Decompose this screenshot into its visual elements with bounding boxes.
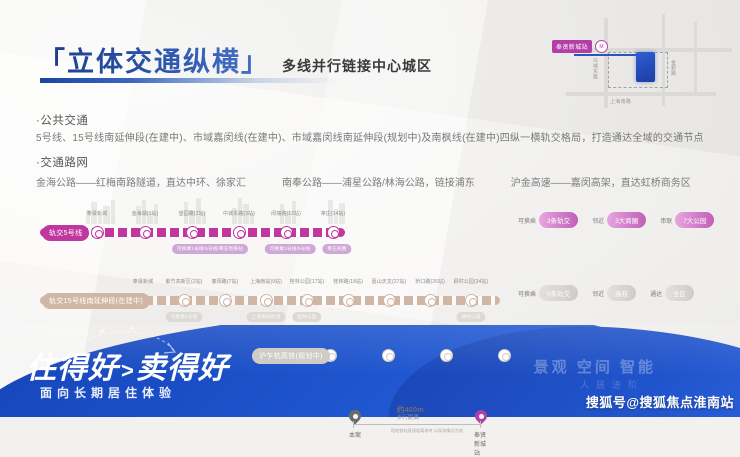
map-road	[694, 22, 697, 92]
walk-distance-callout: 约400m 步行距离 距地铁站直线距离参考 以现场情况为准 本案 奉贤新城站	[345, 398, 495, 446]
metro-station-marker[interactable]	[260, 294, 273, 307]
feature-chip: 通达全区	[650, 285, 694, 301]
map-station-marker: 奉贤新城站 M	[552, 40, 608, 53]
metro-station-name: 金海湖(1站)	[132, 210, 159, 217]
metro-station-marker[interactable]	[383, 294, 396, 307]
metro-station-marker[interactable]	[424, 294, 437, 307]
slogan-part-b: 卖得好	[136, 343, 229, 387]
road-item: 南奉公路——浦星公路/林海公路，链接浦东	[282, 174, 475, 189]
title-main: 「立体交通纵横」	[38, 40, 270, 79]
metro-line-label: 轨交5号线	[42, 225, 89, 241]
metro-station-name: 奉贤新城	[87, 210, 107, 217]
metro-station-marker[interactable]	[139, 226, 152, 239]
metro-line-label: 沪乍杭高铁(规划中)	[252, 348, 330, 364]
walk-distance-line	[353, 424, 481, 425]
title-subtitle: 多线并行链接中心城区	[282, 56, 432, 76]
map-connector	[574, 54, 638, 56]
slide-root: 「立体交通纵横」 多线并行链接中心城区 ·公共交通 5号线、15号线南延伸段(在…	[0, 0, 740, 417]
copy-block: ·公共交通 5号线、15号线南延伸段(在建中)、市域嘉闵线(在建中)、市域嘉闵线…	[36, 112, 708, 189]
road-item: 金海公路——红梅南路隧道，直达中环、徐家汇	[36, 174, 246, 189]
banner-subtitle: 面向长期居住体验	[40, 384, 176, 401]
metro-station-marker[interactable]	[233, 226, 246, 239]
watermark: 搜狐号@搜狐焦点淮南站	[586, 392, 734, 411]
metro-station-name: 秦阳路(7站)	[212, 278, 239, 285]
banner-ghost-text-secondary: 人居进阶	[580, 378, 644, 391]
slogan-part-a: 住得好	[26, 343, 119, 387]
feature-chip-key: 邻近	[592, 216, 604, 225]
feature-chip-value: 5条轨交	[539, 285, 578, 301]
metro-station-name: 顾村公园(34站)	[454, 278, 489, 285]
feature-chip-value: 3大商圈	[607, 212, 646, 228]
metro-station-marker[interactable]	[465, 294, 478, 307]
walk-distance-label: 步行距离	[397, 413, 419, 421]
metro-station-tag: 顾村公园	[456, 312, 485, 322]
metro-line-label: 轨交15号线南延伸段(在建中)	[42, 293, 150, 309]
metro-station-marker[interactable]	[440, 349, 453, 362]
map-project-block	[636, 52, 655, 82]
metro-station-name: 桂林公园(17站)	[290, 278, 325, 285]
map-street-label: 环城东路	[592, 58, 599, 79]
metro-station-tag: 莘庄商圈	[322, 244, 351, 254]
transit-description: 5号线、15号线南延伸段(在建中)、市域嘉闵线(在建中)、市域嘉闵线南延伸段(规…	[36, 132, 708, 147]
metro-icon: M	[595, 40, 608, 53]
map-street-label: 金碧路	[670, 60, 677, 76]
metro-station-name: 中城东路(3站)	[223, 210, 255, 217]
slogan-arrow-icon: >	[121, 358, 134, 384]
metro-station-name: 紫竹高新区(2站)	[165, 278, 202, 285]
metro-station-name: 桥口路(26站)	[415, 278, 445, 285]
metro-station-tag: 上海南站枢纽	[247, 312, 286, 322]
metro-station-name: 嘉山天龙(27站)	[372, 278, 407, 285]
metro-station-name: 桂林路(18站)	[333, 278, 363, 285]
section-road-network: ·交通路网	[36, 154, 708, 170]
walk-distance-note: 距地铁站直线距离参考 以现场情况为准	[375, 428, 479, 433]
metro-station-marker[interactable]	[382, 349, 395, 362]
banner-slogan: 住得好 > 卖得好	[26, 343, 229, 387]
metro-station-marker[interactable]	[301, 294, 314, 307]
metro-station-marker[interactable]	[178, 294, 191, 307]
feature-chip: 可换乘5条轨交	[518, 285, 578, 301]
feature-chip-key: 通达	[650, 289, 662, 298]
metro-station-marker[interactable]	[219, 294, 232, 307]
feature-chip-key: 可换乘	[518, 289, 536, 298]
metro-station-marker[interactable]	[342, 294, 355, 307]
page-title: 「立体交通纵横」 多线并行链接中心城区	[38, 40, 432, 79]
metro-station-tag: 可换乘5号线	[166, 312, 203, 322]
metro-station-marker[interactable]	[327, 226, 340, 239]
metro-station-marker[interactable]	[280, 226, 293, 239]
feature-chips-line5: 可换乘3条轨交邻近3大商圈串联7大公园	[518, 212, 714, 228]
section-public-transit: ·公共交通	[36, 112, 708, 128]
feature-chip-key: 邻近	[592, 289, 604, 298]
road-list: 金海公路——红梅南路隧道，直达中环、徐家汇 南奉公路——浦星公路/林海公路，链接…	[36, 174, 708, 189]
metro-station-name: 上海南站(9站)	[250, 278, 282, 285]
metro-station-marker[interactable]	[498, 349, 511, 362]
metro-station-marker[interactable]	[186, 226, 199, 239]
metro-station-tag: 可换乘1号线/5号线	[265, 244, 316, 254]
walk-from-label: 本案	[349, 430, 361, 439]
feature-chip: 串联7大公园	[660, 212, 714, 228]
road-item: 沪金高速——嘉闵高架，直达虹桥商务区	[511, 174, 691, 189]
feature-chip-key: 可换乘	[518, 216, 536, 225]
feature-chip: 可换乘3条轨交	[518, 212, 578, 228]
metro-station-name: 望园路(2站)	[179, 210, 206, 217]
map-street-label: 上海南路	[610, 98, 631, 105]
metro-station-name: 奉贤新城	[133, 278, 153, 285]
metro-station-marker[interactable]	[91, 226, 104, 239]
feature-chip-value: 高校	[607, 285, 636, 301]
title-underline	[40, 78, 340, 83]
metro-station-tag: 桂林公园	[292, 312, 321, 322]
locator-map: 奉贤新城站 M 环城东路 上海南路 金碧路	[544, 14, 734, 110]
feature-chip: 邻近高校	[592, 285, 636, 301]
walk-to-label: 奉贤新城站	[474, 430, 488, 457]
feature-chips-line15: 可换乘5条轨交邻近高校通达全区	[518, 285, 694, 301]
feature-chip-value: 3条轨交	[539, 212, 578, 228]
metro-station-name: 闵瑞路(12站)	[271, 210, 301, 217]
map-road	[566, 92, 716, 96]
feature-chip-value: 7大公园	[675, 212, 714, 228]
map-station-label: 奉贤新城站	[552, 40, 592, 53]
feature-chip-key: 串联	[660, 216, 672, 225]
banner-ghost-text: 景观 空间 智能	[534, 356, 656, 377]
metro-station-tag: 可换乘1号线/5号线/莘庄地铁站	[172, 244, 248, 254]
feature-chip-value: 全区	[665, 285, 694, 301]
feature-chip: 邻近3大商圈	[592, 212, 646, 228]
metro-station-name: 莘庄(14站)	[321, 210, 346, 217]
